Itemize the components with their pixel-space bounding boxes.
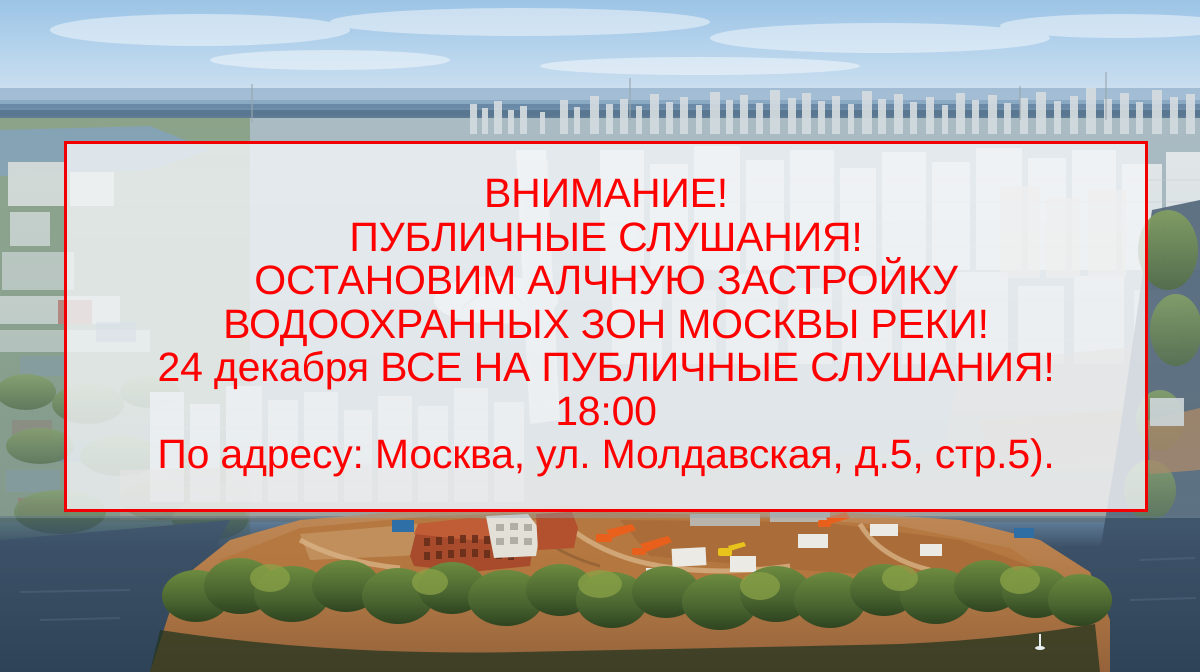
poster-root: ВНИМАНИЕ! ПУБЛИЧНЫЕ СЛУШАНИЯ! ОСТАНОВИМ …: [0, 0, 1200, 672]
announcement-line-address: По адресу: Москва, ул. Молдавская, д.5, …: [157, 433, 1054, 476]
announcement-line-attention: ВНИМАНИЕ!: [484, 172, 728, 215]
announcement-line-time: 18:00: [555, 390, 657, 433]
announcement-line-stop-development: ОСТАНОВИМ АЛЧНУЮ ЗАСТРОЙКУ: [254, 259, 957, 302]
announcement-panel: ВНИМАНИЕ! ПУБЛИЧНЫЕ СЛУШАНИЯ! ОСТАНОВИМ …: [64, 141, 1148, 512]
announcement-line-water-protection-zones: ВОДООХРАННЫХ ЗОН МОСКВЫ РЕКИ!: [223, 303, 989, 346]
announcement-line-public-hearings: ПУБЛИЧНЫЕ СЛУШАНИЯ!: [349, 216, 862, 259]
announcement-line-date-call: 24 декабря ВСЕ НА ПУБЛИЧНЫЕ СЛУШАНИЯ!: [157, 346, 1054, 389]
